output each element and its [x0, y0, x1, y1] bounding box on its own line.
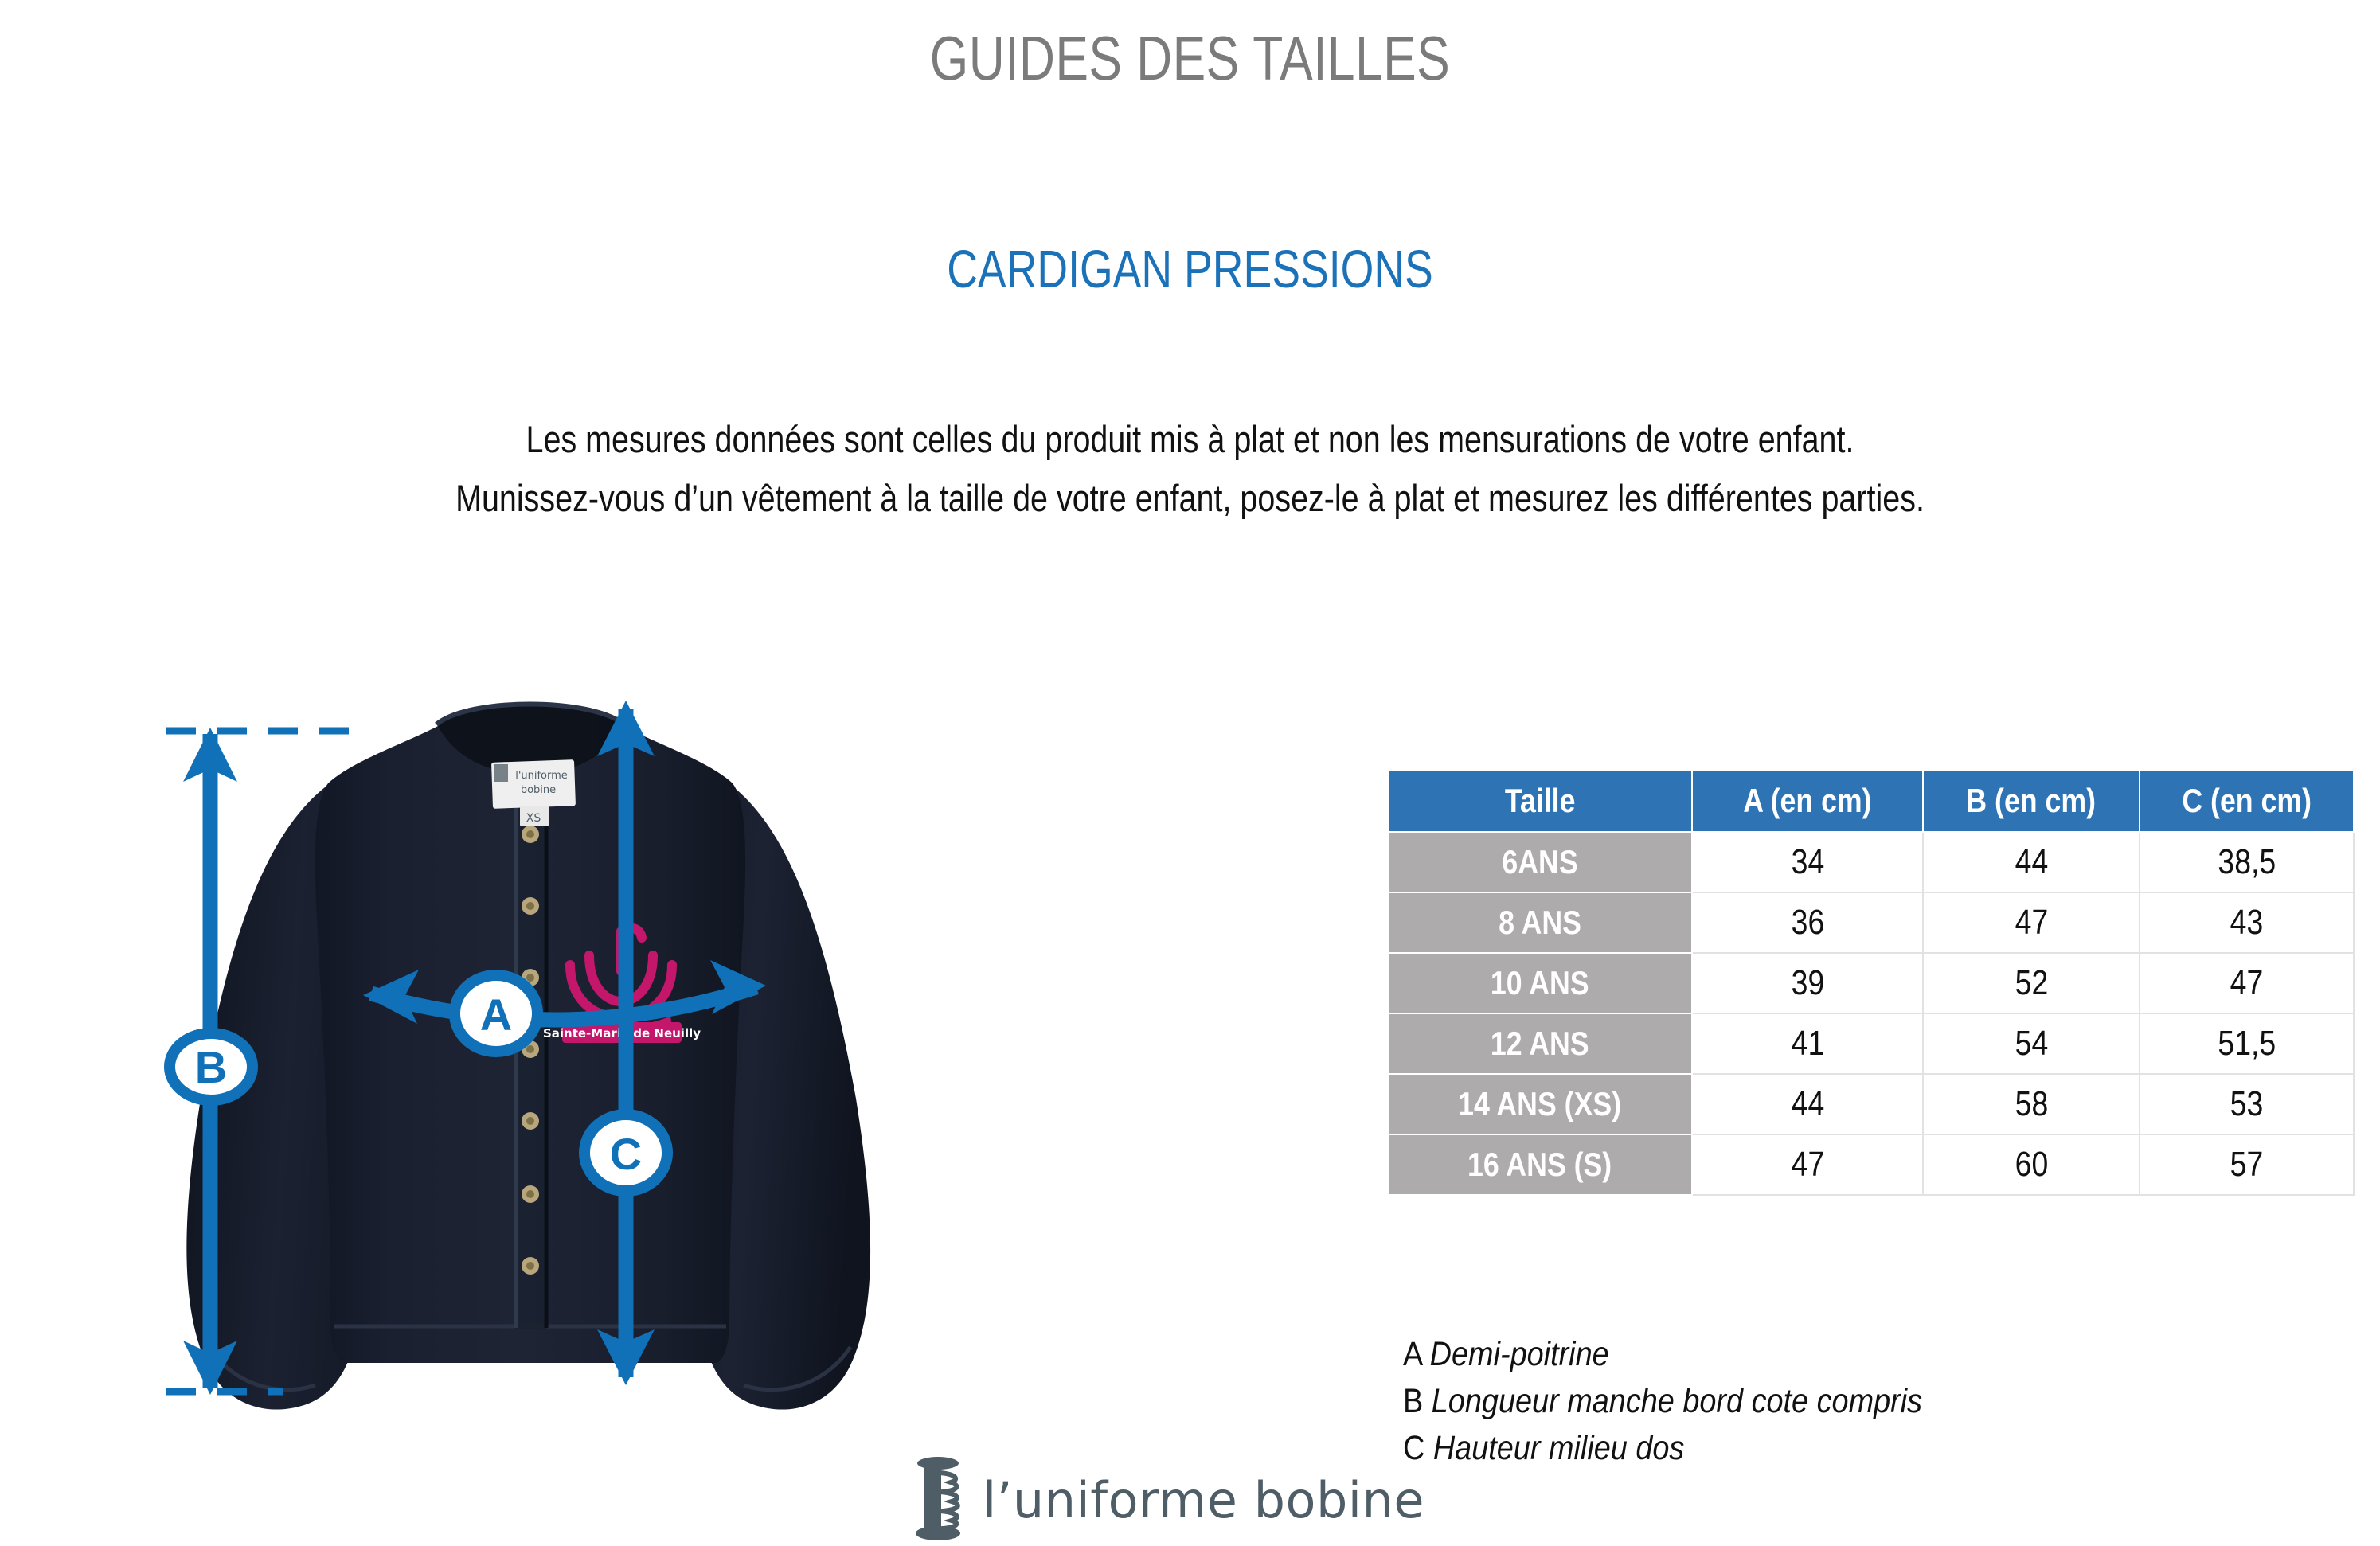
cell-b: 58	[1923, 1074, 2140, 1134]
table-header-row: Taille A (en cm) B (en cm) C (en cm)	[1388, 770, 2354, 832]
product-subtitle: CARDIGAN PRESSIONS	[238, 239, 2142, 300]
cell-b: 52	[1923, 953, 2140, 1013]
measurement-overlay: B A C	[96, 685, 971, 1489]
cell-a: 44	[1692, 1074, 1923, 1134]
cell-b: 60	[1923, 1134, 2140, 1195]
cell-b: 54	[1923, 1013, 2140, 1074]
cell-c: 47	[2140, 953, 2354, 1013]
marker-b-badge: B	[170, 1033, 252, 1100]
brand-logo: l’uniforme bobine	[914, 1455, 1424, 1544]
marker-a-badge: A	[455, 975, 537, 1052]
marker-a-label: A	[480, 990, 512, 1040]
cell-c: 57	[2140, 1134, 2354, 1195]
table-row: 8 ANS 36 47 43	[1388, 892, 2354, 953]
table-row: 14 ANS (XS) 44 58 53	[1388, 1074, 2354, 1134]
measurement-legend: A Demi-poitrine B Longueur manche bord c…	[1403, 1331, 1993, 1472]
intro-paragraph: Les mesures données sont celles du produ…	[0, 410, 2380, 528]
cell-c: 53	[2140, 1074, 2354, 1134]
cell-a: 36	[1692, 892, 1923, 953]
cell-size: 8 ANS	[1388, 892, 1692, 953]
intro-line-2: Munissez-vous d’un vêtement à la taille …	[190, 469, 2190, 528]
table-row: 6ANS 34 44 38,5	[1388, 832, 2354, 892]
legend-item-b: B Longueur manche bord cote compris	[1403, 1378, 1993, 1425]
marker-c-badge: C	[584, 1115, 667, 1191]
size-guide-page: GUIDES DES TAILLES CARDIGAN PRESSIONS Le…	[0, 0, 2380, 1546]
cell-c: 43	[2140, 892, 2354, 953]
cell-c: 38,5	[2140, 832, 2354, 892]
cell-size: 14 ANS (XS)	[1388, 1074, 1692, 1134]
legend-text-a: Demi-poitrine	[1430, 1335, 1609, 1373]
column-header-a: A (en cm)	[1692, 770, 1923, 832]
measure-arrow-c	[597, 701, 655, 1385]
column-header-b: B (en cm)	[1923, 770, 2140, 832]
legend-item-a: A Demi-poitrine	[1403, 1331, 1993, 1378]
cell-b: 44	[1923, 832, 2140, 892]
legend-key-a: A	[1403, 1335, 1421, 1373]
page-title: GUIDES DES TAILLES	[238, 22, 2142, 95]
legend-text-b: Longueur manche bord cote compris	[1432, 1382, 1922, 1420]
cell-a: 41	[1692, 1013, 1923, 1074]
size-chart-table: Taille A (en cm) B (en cm) C (en cm) 6AN…	[1387, 769, 2355, 1196]
cell-size: 16 ANS (S)	[1388, 1134, 1692, 1195]
cell-a: 34	[1692, 832, 1923, 892]
legend-text-c: Hauteur milieu dos	[1433, 1429, 1684, 1467]
table-row: 12 ANS 41 54 51,5	[1388, 1013, 2354, 1074]
measure-arrow-a	[363, 960, 766, 1024]
cell-size: 6ANS	[1388, 832, 1692, 892]
cell-a: 39	[1692, 953, 1923, 1013]
marker-c-label: C	[610, 1129, 642, 1179]
cell-size: 12 ANS	[1388, 1013, 1692, 1074]
garment-illustration: XS l'uniforme bobine Sainte-Marie de Neu…	[96, 685, 971, 1489]
cell-a: 47	[1692, 1134, 1923, 1195]
brand-logo-text: l’uniforme bobine	[983, 1471, 1424, 1529]
thread-spool-icon	[914, 1455, 971, 1544]
cell-size: 10 ANS	[1388, 953, 1692, 1013]
column-header-c: C (en cm)	[2140, 770, 2354, 832]
intro-line-1: Les mesures données sont celles du produ…	[190, 410, 2190, 469]
legend-key-b: B	[1403, 1382, 1423, 1420]
cell-b: 47	[1923, 892, 2140, 953]
marker-b-label: B	[195, 1042, 227, 1092]
table-row: 10 ANS 39 52 47	[1388, 953, 2354, 1013]
cell-c: 51,5	[2140, 1013, 2354, 1074]
column-header-size: Taille	[1388, 770, 1692, 832]
legend-item-c: C Hauteur milieu dos	[1403, 1425, 1993, 1472]
table-row: 16 ANS (S) 47 60 57	[1388, 1134, 2354, 1195]
